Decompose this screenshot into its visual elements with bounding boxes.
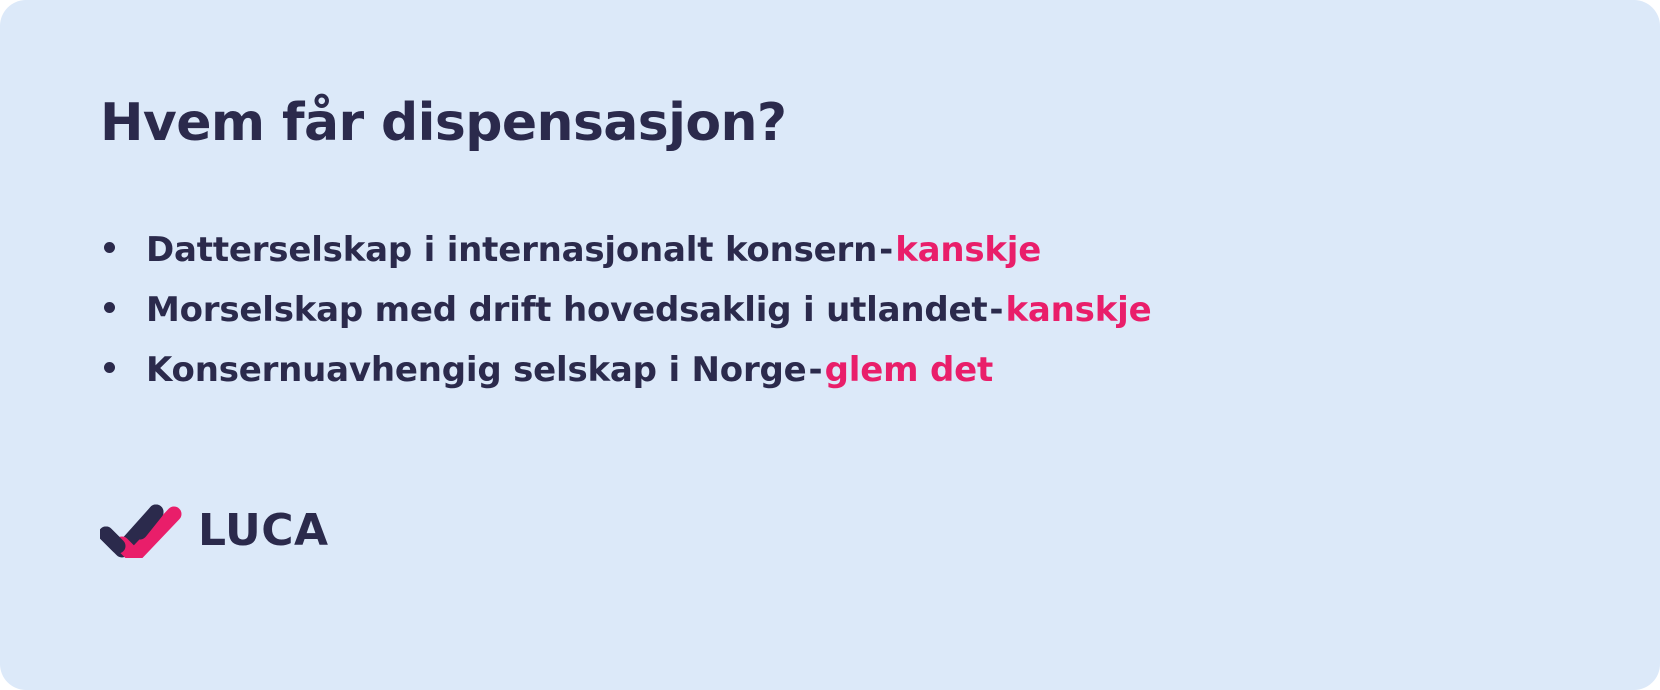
brand-wordmark: LUCA xyxy=(198,509,329,553)
bullet-list: Datterselskap i internasjonalt konsern -… xyxy=(104,233,1151,413)
slide-card: Hvem får dispensasjon? Datterselskap i i… xyxy=(0,0,1660,690)
list-item-verdict: glem det xyxy=(825,353,993,387)
list-item-verdict: kanskje xyxy=(1006,293,1152,327)
list-item-separator: - xyxy=(987,293,1005,327)
brand-logo: LUCA xyxy=(100,500,329,558)
bullet-dot-icon xyxy=(104,242,115,253)
list-item-verdict: kanskje xyxy=(895,233,1041,267)
list-item: Konsernuavhengig selskap i Norge - glem … xyxy=(104,353,1151,413)
bullet-dot-icon xyxy=(104,362,115,373)
list-item: Morselskap med drift hovedsaklig i utlan… xyxy=(104,293,1151,353)
list-item-label: Morselskap med drift hovedsaklig i utlan… xyxy=(146,293,987,327)
page-title: Hvem får dispensasjon? xyxy=(100,94,786,154)
list-item: Datterselskap i internasjonalt konsern -… xyxy=(104,233,1151,293)
list-item-separator: - xyxy=(807,353,825,387)
list-item-label: Datterselskap i internasjonalt konsern xyxy=(146,233,877,267)
bullet-dot-icon xyxy=(104,302,115,313)
list-item-label: Konsernuavhengig selskap i Norge xyxy=(146,353,807,387)
list-item-separator: - xyxy=(877,233,895,267)
double-check-icon xyxy=(100,500,186,558)
